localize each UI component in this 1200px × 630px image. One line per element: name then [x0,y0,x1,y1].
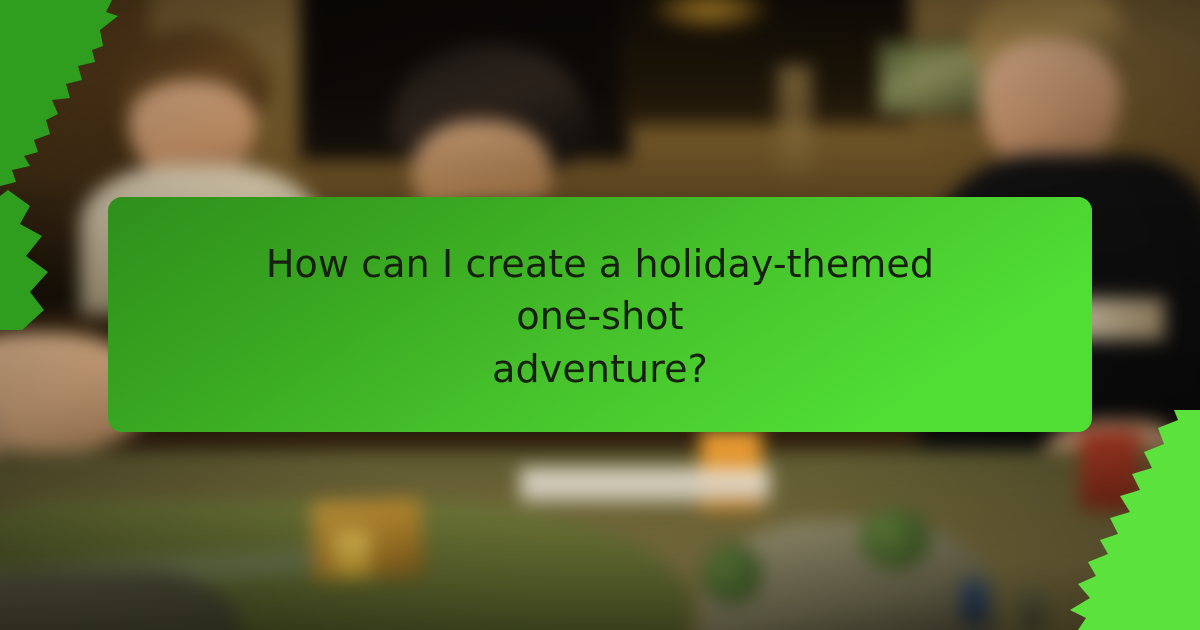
headline-banner: How can I create a holiday-themed one-sh… [108,197,1092,432]
headline-line-1: How can I create a holiday-themed one-sh… [220,238,980,343]
headline-text: How can I create a holiday-themed one-sh… [220,234,980,395]
headline-line-2: adventure? [220,343,980,395]
share-card-canvas: How can I create a holiday-themed one-sh… [0,0,1200,630]
